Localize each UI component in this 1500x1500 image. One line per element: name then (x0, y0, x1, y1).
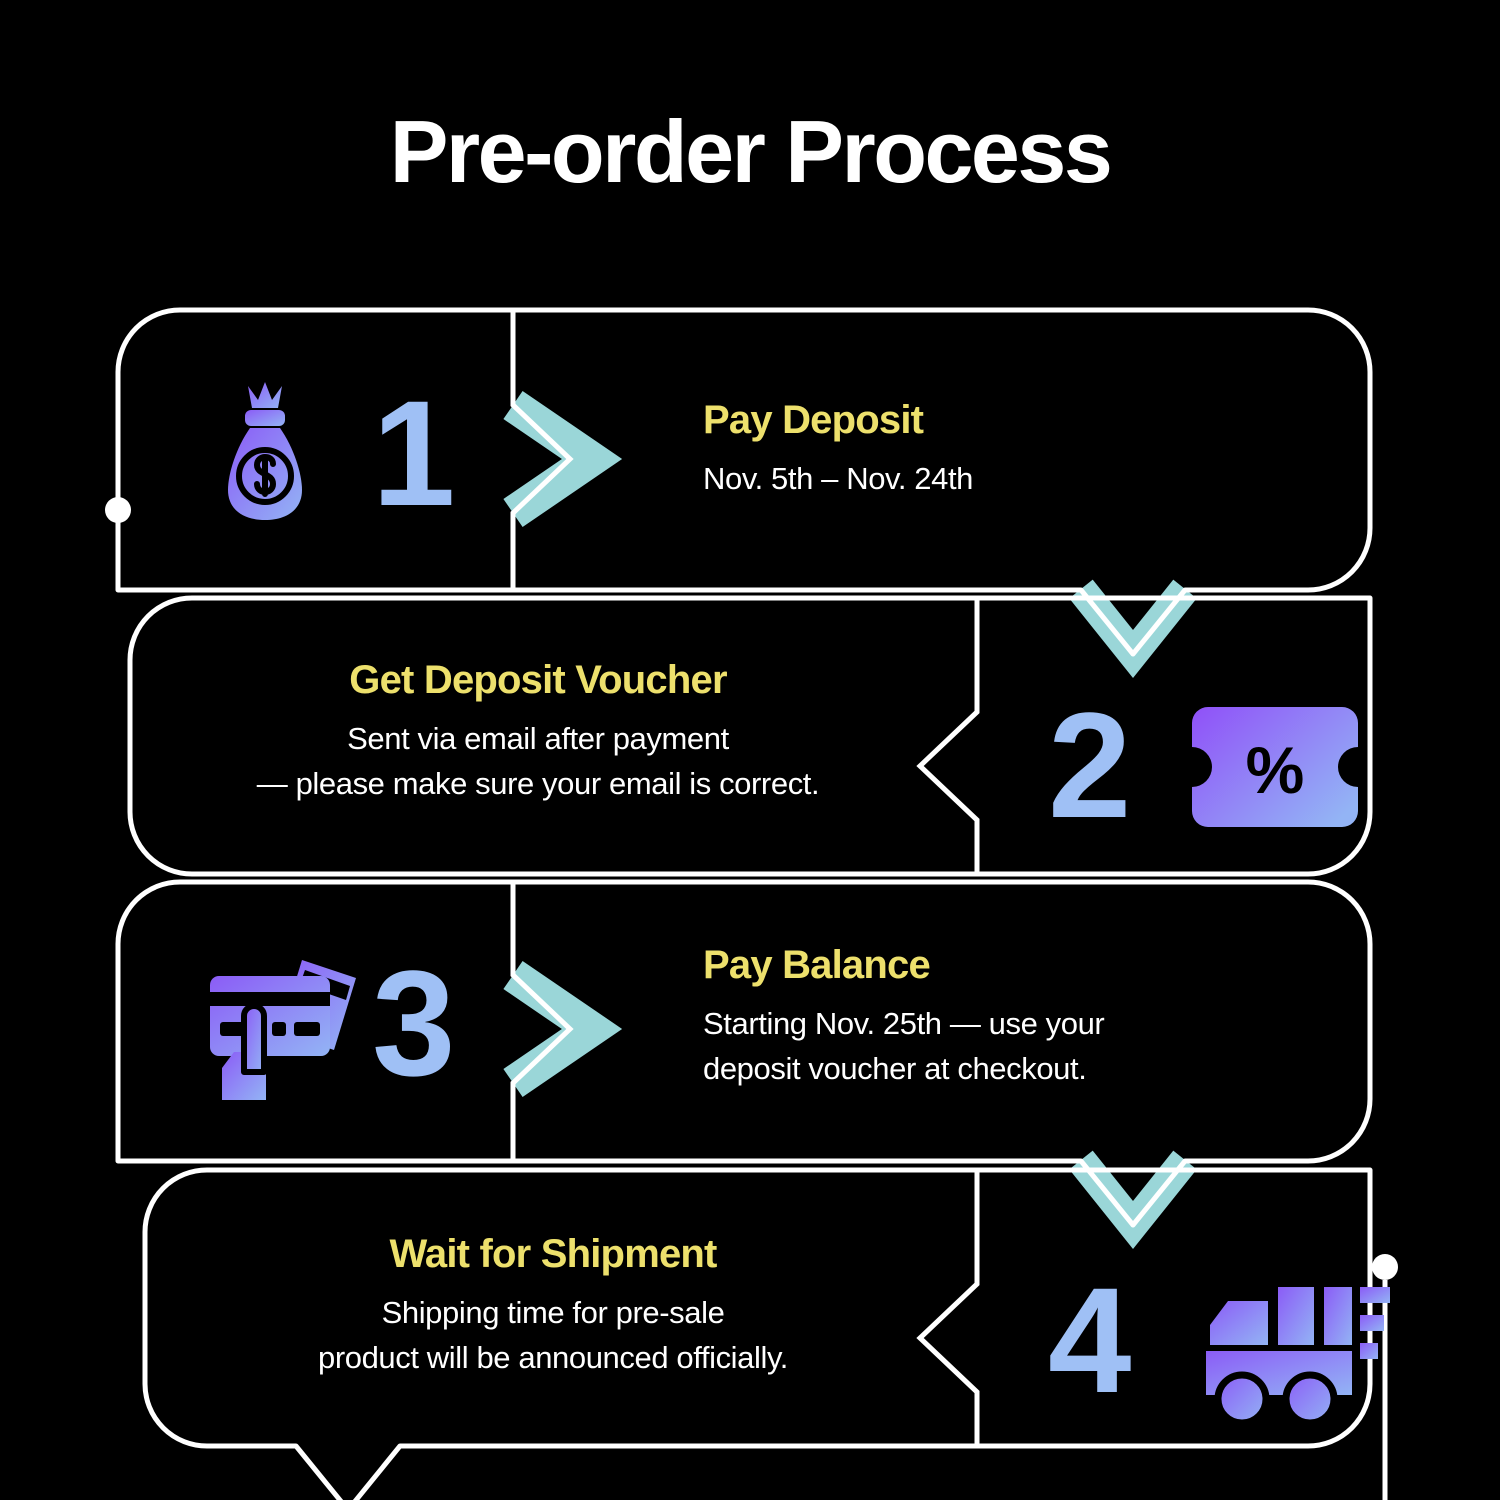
step-line-2-1: — please make sure your email is correct… (130, 762, 946, 807)
step-text-4: Wait for Shipment Shipping time for pre-… (145, 1232, 961, 1381)
text-layer: Pay Deposit Nov. 5th – Nov. 24th Get Dep… (0, 0, 1500, 1500)
step-heading-1: Pay Deposit (703, 398, 973, 443)
infographic-root: Pre-order Process (0, 0, 1500, 1500)
step-text-2: Get Deposit Voucher Sent via email after… (130, 658, 946, 807)
step-line-2-0: Sent via email after payment (130, 717, 946, 762)
step-text-1: Pay Deposit Nov. 5th – Nov. 24th (703, 398, 973, 502)
step-text-3: Pay Balance Starting Nov. 25th — use you… (703, 943, 1104, 1092)
step-line-4-0: Shipping time for pre-sale (145, 1291, 961, 1336)
step-line-1-0: Nov. 5th – Nov. 24th (703, 457, 973, 502)
step-line-3-1: deposit voucher at checkout. (703, 1047, 1104, 1092)
step-heading-4: Wait for Shipment (145, 1232, 961, 1277)
step-heading-2: Get Deposit Voucher (130, 658, 946, 703)
step-line-3-0: Starting Nov. 25th — use your (703, 1002, 1104, 1047)
step-heading-3: Pay Balance (703, 943, 1104, 988)
step-line-4-1: product will be announced officially. (145, 1336, 961, 1381)
